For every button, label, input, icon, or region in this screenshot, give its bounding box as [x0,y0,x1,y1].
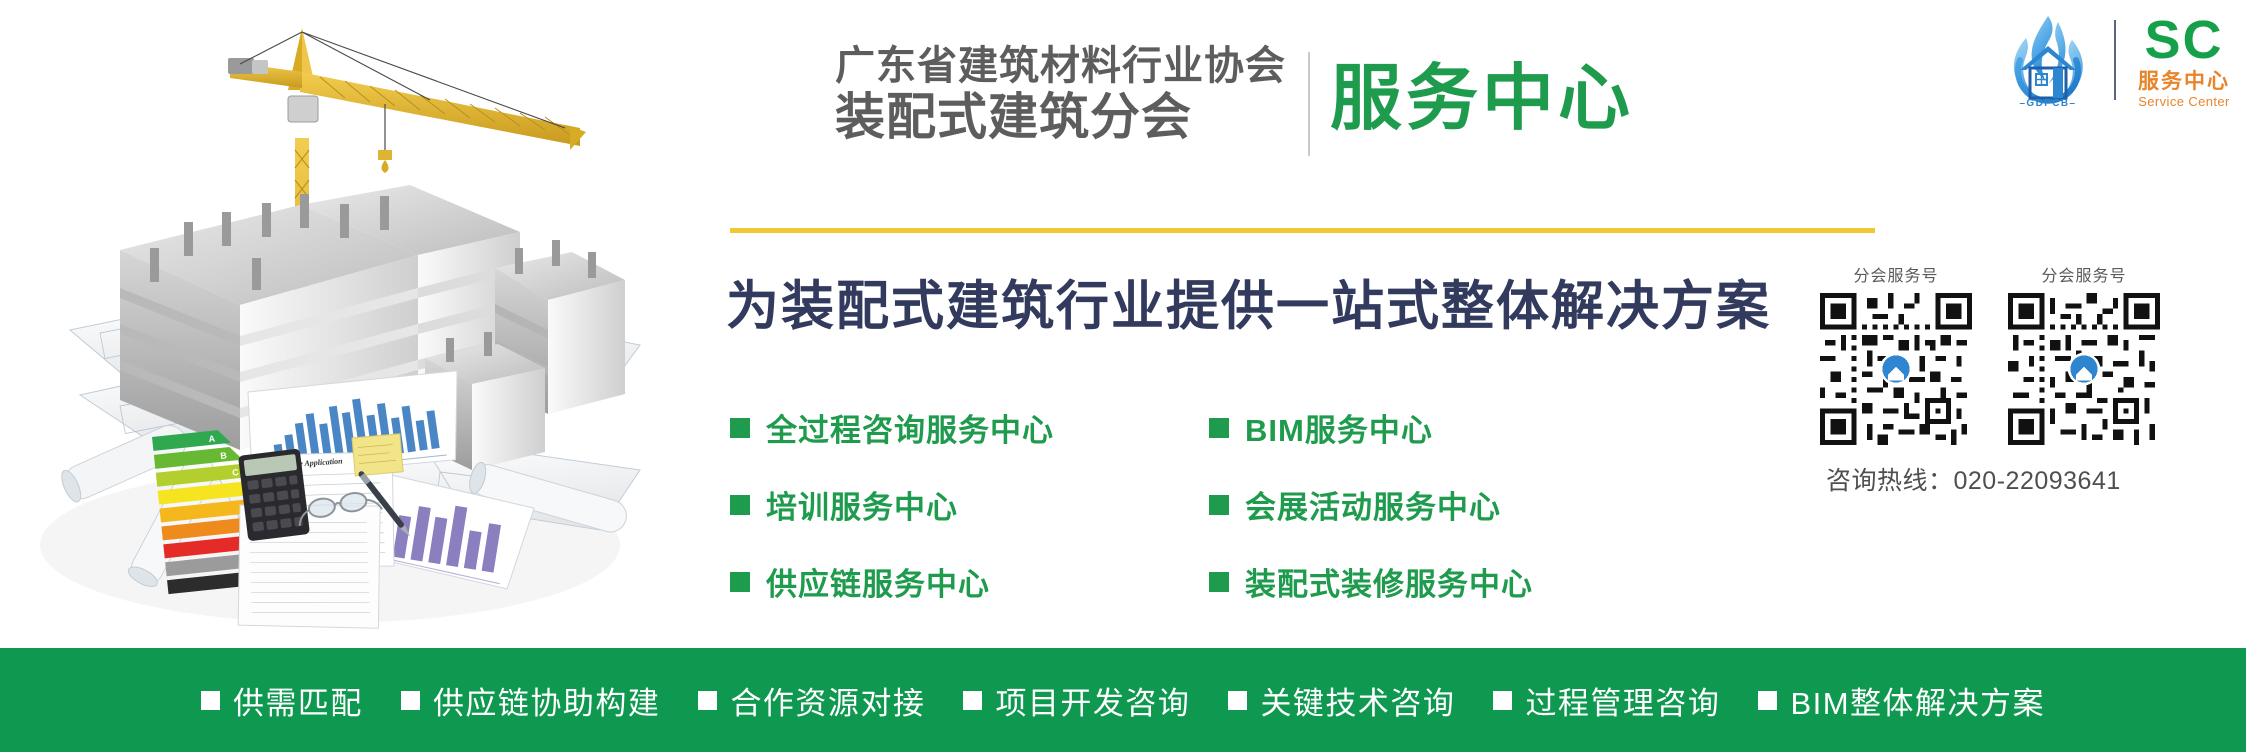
square-bullet-icon [1228,691,1247,710]
square-bullet-icon [401,691,420,710]
qr-card[interactable]: 分会服务号 [2008,262,2160,445]
service-item-label: 全过程咨询服务中心 [766,405,1054,450]
service-item-label: 会展活动服务中心 [1245,482,1501,527]
sc-abbr: SC [2144,13,2223,67]
footer-item[interactable]: 过程管理咨询 [1493,678,1720,723]
qr-code-icon[interactable] [2008,293,2160,445]
square-bullet-icon [1209,495,1229,515]
footer-item-label: 项目开发咨询 [995,678,1190,723]
promo-banner: ABC DEF GHI [0,0,2246,752]
footer-item-label: 供需匹配 [233,678,363,723]
square-bullet-icon [730,418,750,438]
sc-logotype: SC 服务中心 Service Center [2138,13,2230,108]
footer-item-label: BIM整体解决方案 [1790,678,2045,723]
hotline-text: 咨询热线：020-22093641 [1820,461,2220,497]
gold-divider-rule [730,228,1875,233]
footer-item-label: 供应链协助构建 [433,678,661,723]
service-column-left: 全过程咨询服务中心 培训服务中心 供应链服务中心 [730,405,1054,604]
sc-label-en: Service Center [2138,95,2230,108]
footer-item[interactable]: 供应链协助构建 [401,678,661,723]
page-subtitle: 为装配式建筑行业提供一站式整体解决方案 [726,264,1771,340]
footer-item[interactable]: BIM整体解决方案 [1758,678,2045,723]
qr-card[interactable]: 分会服务号 [1820,262,1972,445]
service-item[interactable]: 装配式装修服务中心 [1209,559,1533,604]
footer-item[interactable]: 关键技术咨询 [1228,678,1455,723]
square-bullet-icon [698,691,717,710]
house-flame-circle-logo-icon: –GDPCB– [1996,12,2100,108]
footer-item[interactable]: 合作资源对接 [698,678,925,723]
service-item-label: 供应链服务中心 [766,559,990,604]
footer-item-label: 合作资源对接 [730,678,925,723]
service-item[interactable]: BIM服务中心 [1209,405,1533,450]
service-item-label: 培训服务中心 [766,482,958,527]
service-item[interactable]: 培训服务中心 [730,482,1054,527]
qr-caption: 分会服务号 [2041,262,2126,286]
square-bullet-icon [201,691,220,710]
square-bullet-icon [1493,691,1512,710]
service-center-title: 服务中心 [1330,58,1634,141]
footer-capability-bar: 供需匹配 供应链协助构建 合作资源对接 项目开发咨询 关键技术咨询 过程管理咨询… [0,648,2246,752]
service-center-list: 全过程咨询服务中心 培训服务中心 供应链服务中心 BIM服务中心 会展活动服务中… [730,405,1533,604]
footer-item[interactable]: 供需匹配 [201,678,363,723]
service-item[interactable]: 会展活动服务中心 [1209,482,1533,527]
association-line-2: 装配式建筑分会 [835,92,1286,142]
association-name: 广东省建筑材料行业协会 装配式建筑分会 [835,46,1286,142]
logo-divider [2114,20,2116,100]
footer-item[interactable]: 项目开发咨询 [963,678,1190,723]
footer-item-label: 关键技术咨询 [1260,678,1455,723]
square-bullet-icon [1758,691,1777,710]
square-bullet-icon [1209,572,1229,592]
square-bullet-icon [1209,418,1229,438]
service-column-right: BIM服务中心 会展活动服务中心 装配式装修服务中心 [1209,405,1533,604]
brand-logo-block: –GDPCB– SC 服务中心 Service Center [1996,12,2230,108]
association-line-1: 广东省建筑材料行业协会 [835,46,1286,86]
qr-contact-area: 分会服务号 [1820,262,2220,497]
service-item[interactable]: 供应链服务中心 [730,559,1054,604]
square-bullet-icon [730,495,750,515]
headline-divider [1308,52,1310,156]
svg-text:–GDPCB–: –GDPCB– [2019,98,2076,108]
qr-code-icon[interactable] [1820,293,1972,445]
service-item-label: 装配式装修服务中心 [1245,559,1533,604]
square-bullet-icon [963,691,982,710]
service-item[interactable]: 全过程咨询服务中心 [730,405,1054,450]
construction-site-illustration: ABC DEF GHI [0,0,660,650]
square-bullet-icon [730,572,750,592]
sc-label-cn: 服务中心 [2138,71,2230,92]
footer-item-label: 过程管理咨询 [1525,678,1720,723]
headline-group: 广东省建筑材料行业协会 装配式建筑分会 服务中心 [835,46,1634,156]
qr-caption: 分会服务号 [1853,262,1938,286]
service-item-label: BIM服务中心 [1245,405,1433,450]
